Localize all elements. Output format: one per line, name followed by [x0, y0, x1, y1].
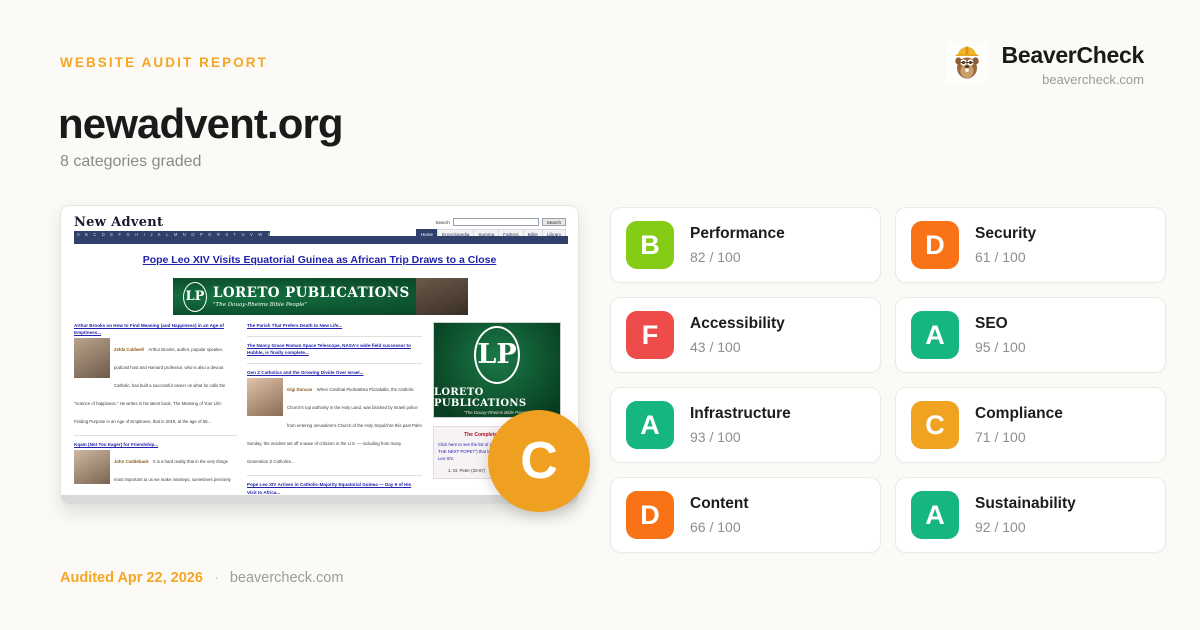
report-kicker: WEBSITE AUDIT REPORT [60, 55, 268, 70]
page-title: newadvent.org [58, 100, 343, 148]
score-card-sustainability[interactable]: A Sustainability 92 / 100 [895, 477, 1166, 553]
list-item[interactable]: Pope Leo XIV Arrives in Catholic-Majorit… [247, 475, 422, 495]
thumb-ad-tagline: "The Douay-Rheims Bible People" [213, 302, 410, 308]
category-label: Accessibility [690, 315, 785, 333]
category-score: 66 / 100 [690, 519, 749, 535]
score-card-seo[interactable]: A SEO 95 / 100 [895, 297, 1166, 373]
category-score: 61 / 100 [975, 249, 1036, 265]
thumb-site-header: New Advent A B C D E F G H I J K L M N O… [74, 216, 568, 238]
thumb-headline[interactable]: Pope Leo XIV Visits Equatorial Guinea as… [61, 254, 578, 266]
category-score: 71 / 100 [975, 429, 1063, 445]
thumb-article-photo [74, 338, 110, 378]
thumb-search-row[interactable]: Search Search [435, 218, 566, 226]
category-score: 93 / 100 [690, 429, 791, 445]
audit-date: Audited Apr 22, 2026 [60, 570, 203, 586]
score-card-compliance[interactable]: C Compliance 71 / 100 [895, 387, 1166, 463]
thumb-article-byline: Gigi Duncan [287, 387, 312, 392]
thumb-article-link[interactable]: Gen Z Catholics and the Growing Divide O… [247, 369, 422, 376]
category-score: 95 / 100 [975, 339, 1026, 355]
grade-badge: D [626, 491, 674, 539]
thumb-search-button[interactable]: Search [542, 218, 566, 226]
category-label: Security [975, 225, 1036, 243]
thumb-article-link[interactable]: The Parish That Prefers Death to New Lif… [247, 322, 422, 329]
beaver-hardhat-icon [946, 42, 988, 84]
category-label: Performance [690, 225, 785, 243]
thumb-article-byline: Zelda Caldwell [114, 347, 144, 352]
category-score: 82 / 100 [690, 249, 785, 265]
grade-badge: C [911, 401, 959, 449]
category-score-grid: B Performance 82 / 100 D Security 61 / 1… [610, 207, 1166, 553]
thumb-sidebar-ad-title: LORETO PUBLICATIONS [434, 387, 560, 409]
footer-separator: · [214, 570, 219, 586]
category-label: Sustainability [975, 495, 1076, 513]
thumb-article-photo [247, 378, 283, 416]
thumb-article-photo [74, 450, 110, 484]
grade-badge: F [626, 311, 674, 359]
grade-badge: A [626, 401, 674, 449]
thumb-article-byline: John Cuddeback [114, 459, 149, 464]
list-item[interactable]: Arthur Brooks on How to Find Meaning (an… [74, 322, 237, 428]
grade-badge: B [626, 221, 674, 269]
thumb-article-link[interactable]: Pope Leo XIV Arrives in Catholic-Majorit… [247, 481, 422, 495]
thumb-ad-banner[interactable]: LP LORETO PUBLICATIONS "The Douay-Rheims… [173, 278, 468, 315]
page-subtitle: 8 categories graded [60, 153, 201, 171]
thumb-ad-portrait [416, 278, 468, 315]
brand-url: beavercheck.com [1002, 72, 1144, 87]
thumb-nav-bar [74, 236, 568, 244]
category-label: Compliance [975, 405, 1063, 423]
category-score: 43 / 100 [690, 339, 785, 355]
report-footer: Audited Apr 22, 2026 · beavercheck.com [60, 570, 343, 586]
score-card-content[interactable]: D Content 66 / 100 [610, 477, 881, 553]
grade-badge: A [911, 311, 959, 359]
grade-badge: D [911, 221, 959, 269]
list-item[interactable]: Gen Z Catholics and the Growing Divide O… [247, 363, 422, 468]
thumb-ad-title: LORETO PUBLICATIONS [213, 285, 410, 301]
footer-domain: beavercheck.com [230, 570, 344, 586]
category-label: Infrastructure [690, 405, 791, 423]
thumb-search-label: Search [435, 220, 449, 225]
brand-name: BeaverCheck [1002, 42, 1144, 68]
overall-grade-badge: C [488, 410, 590, 512]
category-label: Content [690, 495, 749, 513]
thumb-scrollbar[interactable] [61, 495, 578, 504]
thumb-column-middle: The Parish That Prefers Death to New Lif… [247, 322, 422, 505]
score-card-infrastructure[interactable]: A Infrastructure 93 / 100 [610, 387, 881, 463]
score-card-performance[interactable]: B Performance 82 / 100 [610, 207, 881, 283]
loreto-monogram-icon: LP [474, 326, 520, 384]
list-item[interactable]: The Parish That Prefers Death to New Lif… [247, 322, 422, 329]
category-label: SEO [975, 315, 1026, 333]
thumb-article-link[interactable]: The Nancy Grace Roman Space Telescope, N… [247, 342, 422, 356]
thumb-search-input[interactable] [453, 218, 539, 226]
category-score: 92 / 100 [975, 519, 1076, 535]
score-card-accessibility[interactable]: F Accessibility 43 / 100 [610, 297, 881, 373]
loreto-monogram-icon: LP [183, 282, 207, 312]
score-card-security[interactable]: D Security 61 / 100 [895, 207, 1166, 283]
thumb-sidebar-ad[interactable]: LP LORETO PUBLICATIONS "The Douay-Rheims… [433, 322, 561, 418]
brand: BeaverCheck beavercheck.com [946, 40, 1144, 87]
list-item[interactable]: The Nancy Grace Roman Space Telescope, N… [247, 336, 422, 356]
thumb-article-link[interactable]: Kqam (Not Too Eager) for Friendship... [74, 441, 237, 448]
thumb-column-left: Arthur Brooks on How to Find Meaning (an… [74, 322, 237, 505]
grade-badge: A [911, 491, 959, 539]
thumb-article-link[interactable]: Arthur Brooks on How to Find Meaning (an… [74, 322, 237, 336]
